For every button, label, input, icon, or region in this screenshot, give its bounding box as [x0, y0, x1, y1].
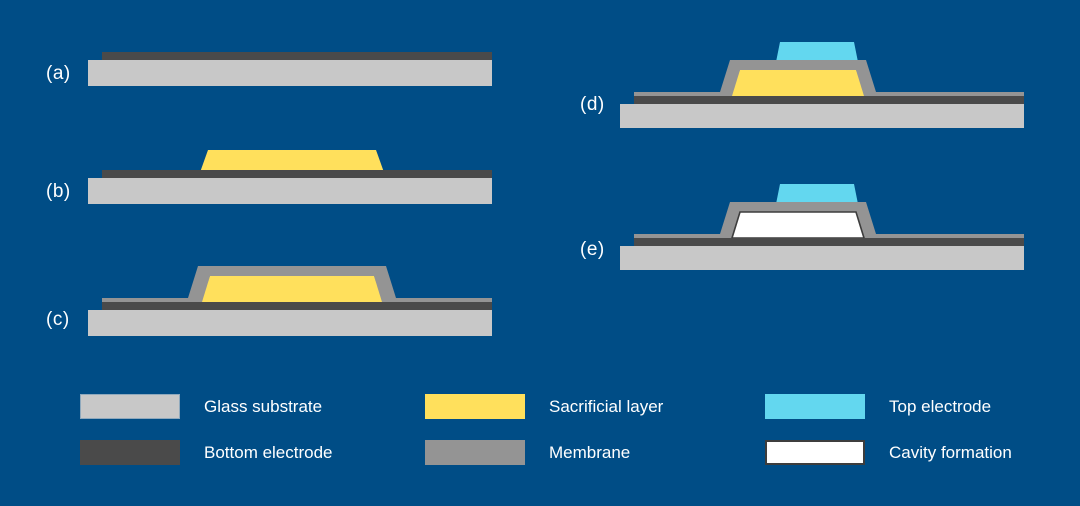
glass-substrate-layer [88, 60, 492, 86]
panel-e-cross-section [576, 178, 1036, 270]
legend-item-membrane: Membrane [425, 432, 765, 472]
legend-label-membrane: Membrane [549, 444, 630, 461]
legend-item-top-electrode: Top electrode [765, 386, 1040, 426]
panel-c [44, 258, 504, 338]
process-flow-diagram: (a) (b) (c) (d) [0, 0, 1080, 506]
panel-d [576, 36, 1036, 128]
legend-label-sacrificial-layer: Sacrificial layer [549, 398, 663, 415]
legend-item-glass-substrate: Glass substrate [80, 386, 425, 426]
legend-label-bottom-electrode: Bottom electrode [204, 444, 333, 461]
panel-e-label: (e) [580, 240, 605, 259]
legend-swatch-glass-substrate [80, 394, 180, 419]
panel-c-cross-section [44, 258, 504, 338]
legend-item-sacrificial-layer: Sacrificial layer [425, 386, 765, 426]
top-electrode-layer [776, 184, 858, 204]
panel-a [44, 44, 504, 94]
panel-b [44, 140, 504, 210]
glass-substrate-layer [620, 104, 1024, 128]
glass-substrate-layer [88, 178, 492, 204]
top-electrode-layer [776, 42, 858, 62]
panel-a-label: (a) [46, 64, 71, 83]
panel-a-cross-section [44, 44, 504, 94]
legend-swatch-bottom-electrode [80, 440, 180, 465]
legend-label-cavity-formation: Cavity formation [889, 444, 1012, 461]
legend: Glass substrate Bottom electrode Sacrifi… [80, 386, 1040, 472]
sacrificial-layer [202, 276, 382, 302]
cavity-region [732, 212, 864, 238]
legend-item-cavity-formation: Cavity formation [765, 432, 1040, 472]
legend-label-glass-substrate: Glass substrate [204, 398, 322, 415]
panel-b-cross-section [44, 140, 504, 210]
legend-swatch-cavity-formation [765, 440, 865, 465]
panel-e [576, 178, 1036, 270]
sacrificial-layer [732, 70, 864, 96]
legend-swatch-sacrificial-layer [425, 394, 525, 419]
panel-b-label: (b) [46, 182, 71, 201]
panel-d-cross-section [576, 36, 1036, 128]
legend-label-top-electrode: Top electrode [889, 398, 991, 415]
panel-d-label: (d) [580, 95, 605, 114]
legend-item-bottom-electrode: Bottom electrode [80, 432, 425, 472]
legend-swatch-top-electrode [765, 394, 865, 419]
panel-c-label: (c) [46, 310, 70, 329]
legend-swatch-membrane [425, 440, 525, 465]
glass-substrate-layer [88, 310, 492, 336]
glass-substrate-layer [620, 246, 1024, 270]
